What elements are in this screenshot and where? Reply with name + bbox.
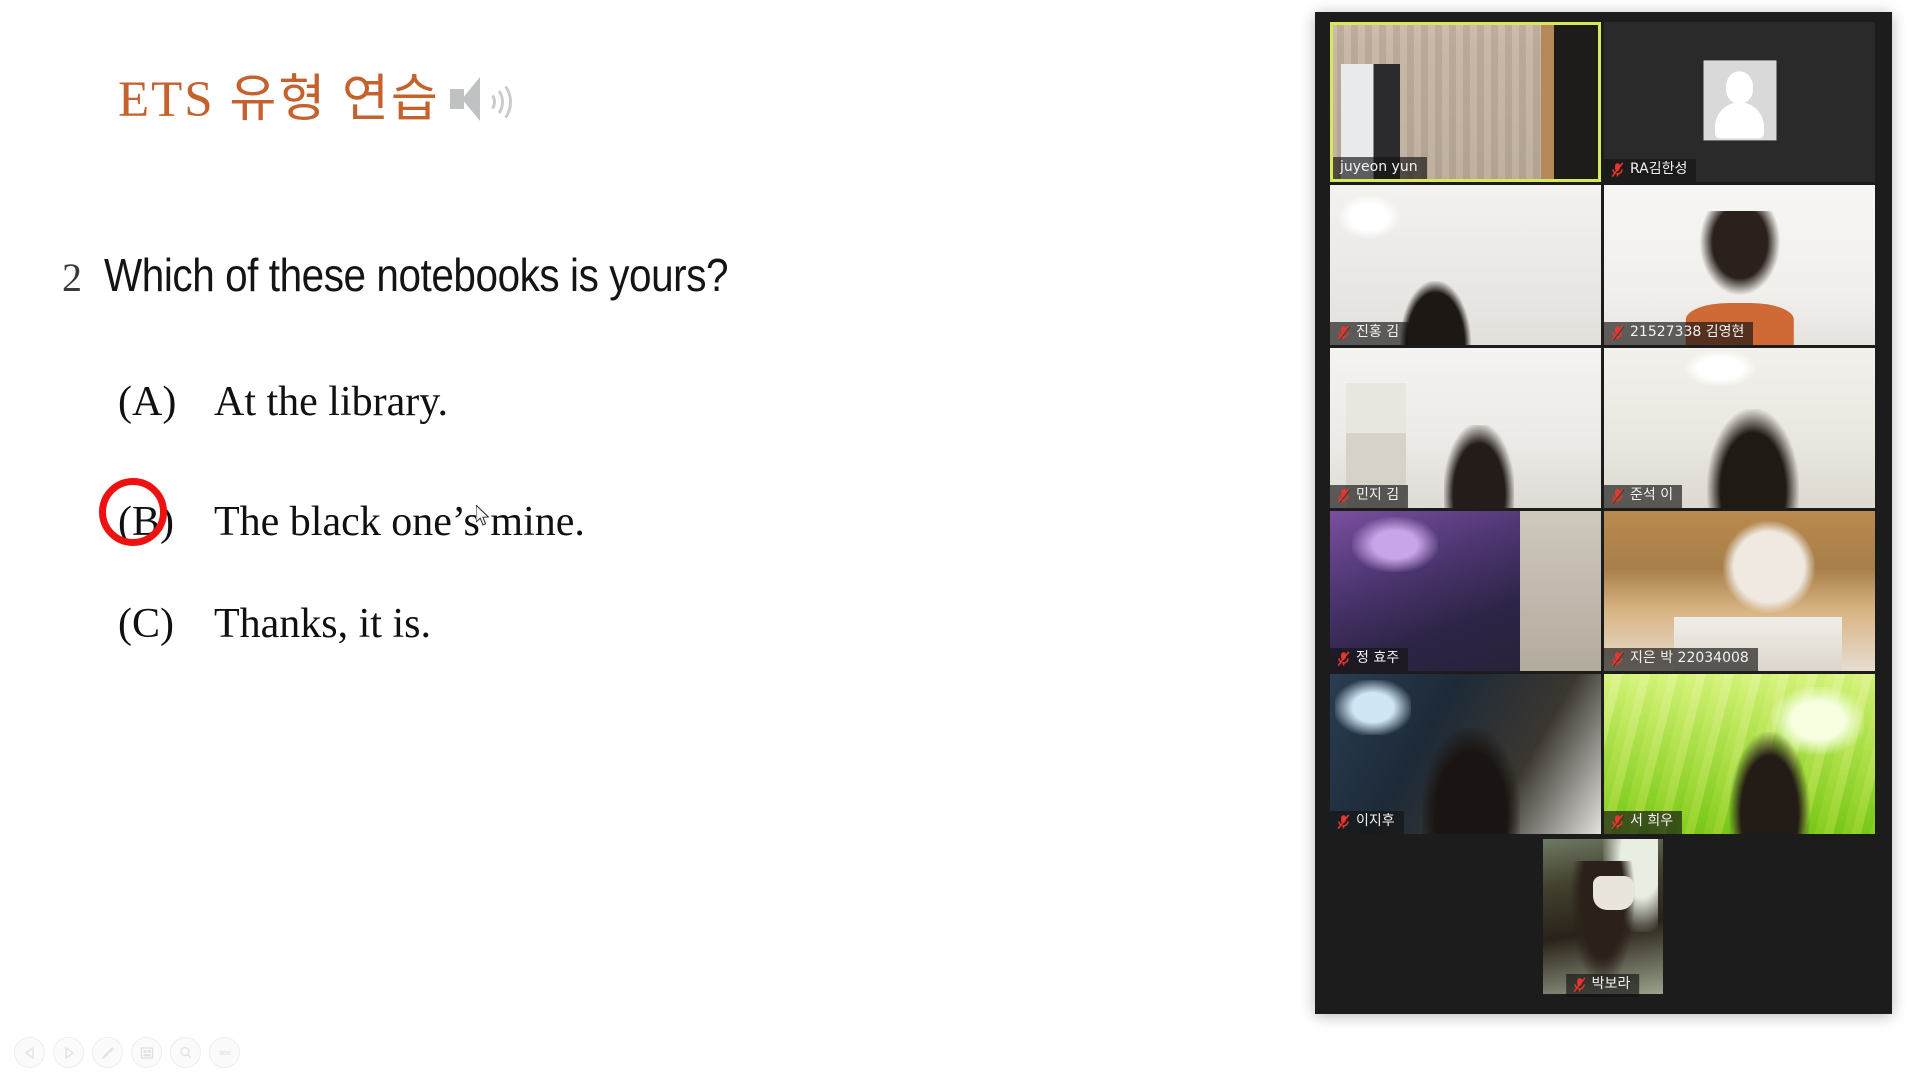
avatar	[1703, 60, 1776, 140]
mic-muted-icon[interactable]	[1611, 162, 1624, 178]
participant-name: 지은 박 22034008	[1630, 651, 1749, 666]
participant-tile[interactable]: 정 효주	[1330, 511, 1601, 671]
participant-name-badge: 진홍 김	[1330, 322, 1408, 345]
participant-tile[interactable]: juyeon yun	[1330, 22, 1601, 182]
participant-video	[1330, 511, 1601, 671]
participant-name: 민지 김	[1356, 488, 1399, 503]
participant-tile[interactable]: 이지후	[1330, 674, 1601, 834]
mic-muted-icon	[1611, 325, 1624, 341]
choice-option-c[interactable]: (C) Thanks, it is.	[118, 600, 431, 648]
participant-name-badge: 이지후	[1330, 811, 1404, 834]
participant-row: 민지 김준석 이	[1330, 348, 1875, 508]
mic-muted-icon	[1337, 325, 1350, 341]
participant-name-badge: 서 희우	[1604, 811, 1682, 834]
participant-video	[1330, 185, 1601, 345]
participant-row: 정 효주지은 박 22034008	[1330, 511, 1875, 671]
participant-name-badge: 지은 박 22034008	[1604, 648, 1758, 671]
participant-row: juyeon yunRA김한성	[1330, 22, 1875, 182]
participant-video	[1604, 185, 1875, 345]
participant-name: 박보라	[1592, 977, 1631, 992]
speaker-cone	[462, 77, 480, 121]
participant-name-badge: 21527338 김영현	[1604, 322, 1753, 345]
mic-muted-icon[interactable]	[1611, 325, 1624, 341]
avatar-head	[1726, 71, 1753, 103]
presentation-slide: ETS 유형 연습 2 Which of these notebooks is …	[0, 0, 1320, 1080]
choice-b-label-text: (B)	[118, 499, 174, 545]
participant-name: 진홍 김	[1356, 325, 1399, 340]
participant-name-badge: juyeon yun	[1333, 157, 1427, 179]
participant-row: 이지후서 희우	[1330, 674, 1875, 834]
participant-tile[interactable]: 21527338 김영현	[1604, 185, 1875, 345]
participant-video	[1330, 348, 1601, 508]
participant-row: 진홍 김21527338 김영현	[1330, 185, 1875, 345]
face-mask	[1593, 876, 1634, 910]
next-slide-button[interactable]	[53, 1037, 84, 1068]
participant-name: 21527338 김영현	[1630, 325, 1744, 340]
mic-muted-icon[interactable]	[1337, 814, 1350, 830]
mic-muted-icon	[1337, 651, 1350, 667]
participant-name-badge: RA김한성	[1604, 159, 1696, 182]
pen-tool-button[interactable]	[92, 1037, 123, 1068]
mic-muted-icon[interactable]	[1611, 488, 1624, 504]
more-options-button[interactable]	[209, 1037, 240, 1068]
participant-tile[interactable]: 준석 이	[1604, 348, 1875, 508]
participant-name: 서 희우	[1630, 814, 1673, 829]
participant-name-badge: 정 효주	[1330, 648, 1408, 671]
participant-name: 정 효주	[1356, 651, 1399, 666]
zoom-button[interactable]	[170, 1037, 201, 1068]
participant-tile[interactable]: 진홍 김	[1330, 185, 1601, 345]
mic-muted-icon	[1611, 488, 1624, 504]
choice-option-a[interactable]: (A) At the library.	[118, 378, 448, 426]
mic-muted-icon	[1337, 814, 1350, 830]
slide-title: ETS 유형 연습	[118, 72, 508, 128]
mic-muted-icon[interactable]	[1337, 488, 1350, 504]
mic-muted-icon[interactable]	[1337, 325, 1350, 341]
participant-name-badge: 민지 김	[1330, 485, 1408, 508]
choice-a-label: (A)	[118, 378, 214, 426]
mic-muted-icon[interactable]	[1611, 814, 1624, 830]
question-number: 2	[62, 254, 104, 301]
participant-tile[interactable]: RA김한성	[1604, 22, 1875, 182]
mic-muted-icon[interactable]	[1573, 977, 1586, 993]
choice-a-text: At the library.	[214, 378, 448, 426]
participant-video-inner	[1543, 839, 1663, 994]
choice-c-text: Thanks, it is.	[214, 600, 431, 648]
mic-muted-icon[interactable]	[1611, 651, 1624, 667]
mic-muted-icon	[1611, 814, 1624, 830]
mic-muted-icon[interactable]	[1337, 651, 1350, 667]
video-conference-panel[interactable]: juyeon yunRA김한성진홍 김21527338 김영현민지 김준석 이정…	[1315, 12, 1892, 1014]
mic-muted-icon	[1337, 488, 1350, 504]
previous-slide-button[interactable]	[14, 1037, 45, 1068]
app-root: ETS 유형 연습 2 Which of these notebooks is …	[0, 0, 1920, 1080]
mic-muted-icon	[1573, 977, 1586, 993]
choice-b-label: (B)	[118, 498, 214, 546]
slide-toolbar	[14, 1037, 240, 1068]
participant-name-badge: 박보라	[1566, 974, 1640, 997]
participant-name: 이지후	[1356, 814, 1395, 829]
participant-tile[interactable]: 서 희우	[1604, 674, 1875, 834]
participant-name: juyeon yun	[1340, 160, 1418, 175]
all-slides-button[interactable]	[131, 1037, 162, 1068]
participant-row: 박보라	[1330, 837, 1875, 997]
participant-video	[1604, 511, 1875, 671]
choice-b-text: The black one’s mine.	[214, 498, 585, 546]
participant-tile[interactable]: 박보라	[1467, 837, 1738, 997]
mic-muted-icon	[1611, 162, 1624, 178]
participant-video	[1330, 674, 1601, 834]
participant-grid: juyeon yunRA김한성진홍 김21527338 김영현민지 김준석 이정…	[1330, 22, 1875, 1007]
participant-tile[interactable]: 민지 김	[1330, 348, 1601, 508]
speaker-icon[interactable]	[448, 72, 508, 128]
participant-tile[interactable]: 지은 박 22034008	[1604, 511, 1875, 671]
avatar-body	[1715, 102, 1764, 138]
question-line: 2 Which of these notebooks is yours?	[62, 248, 813, 302]
participant-name: 준석 이	[1630, 488, 1673, 503]
participant-name-badge: 준석 이	[1604, 485, 1682, 508]
choice-option-b[interactable]: (B) The black one’s mine.	[118, 498, 585, 546]
choice-c-label: (C)	[118, 600, 214, 648]
speaker-wave-3	[480, 80, 512, 124]
participant-video	[1604, 674, 1875, 834]
mic-muted-icon	[1611, 651, 1624, 667]
participant-name: RA김한성	[1630, 162, 1687, 177]
participant-video	[1604, 348, 1875, 508]
question-text: Which of these notebooks is yours?	[104, 248, 728, 302]
page-title: ETS 유형 연습	[118, 75, 440, 126]
